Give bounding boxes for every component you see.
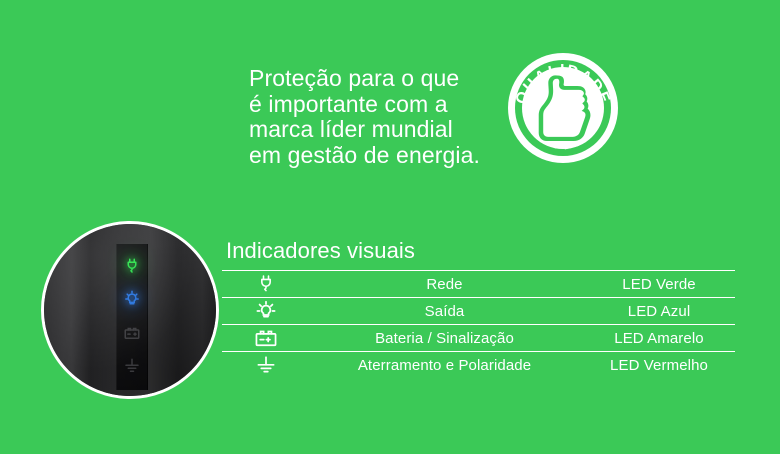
indicator-led-color: LED Verde [583, 276, 735, 293]
indicator-label: Saída [310, 303, 583, 320]
headline-text: Proteção para o que é importante com a m… [249, 66, 519, 168]
table-row: Aterramento e Polaridade LED Vermelho [222, 351, 735, 378]
indicator-led-color: LED Azul [583, 303, 735, 320]
indicator-label: Aterramento e Polaridade [310, 357, 583, 374]
ground-icon [222, 355, 310, 375]
battery-icon [222, 328, 310, 348]
quality-seal-badge: QUALIDADE GLOBAL [507, 52, 619, 164]
indicator-label: Bateria / Sinalização [310, 330, 583, 347]
plug-icon [222, 274, 310, 294]
table-row: Bateria / Sinalização LED Amarelo [222, 324, 735, 351]
indicator-label: Rede [310, 276, 583, 293]
page-title: Indicadores visuais [226, 238, 415, 264]
bulb-icon [222, 300, 310, 322]
product-photo-circle [41, 221, 219, 399]
indicator-led-color: LED Vermelho [583, 357, 735, 374]
indicator-led-color: LED Amarelo [583, 330, 735, 347]
table-row: Saída LED Azul [222, 297, 735, 324]
promo-slide: Proteção para o que é importante com a m… [0, 0, 780, 454]
visual-indicators-table: Rede LED Verde Saída LED Azul [222, 270, 735, 378]
product-gloss-overlay [44, 224, 216, 396]
table-row: Rede LED Verde [222, 270, 735, 297]
